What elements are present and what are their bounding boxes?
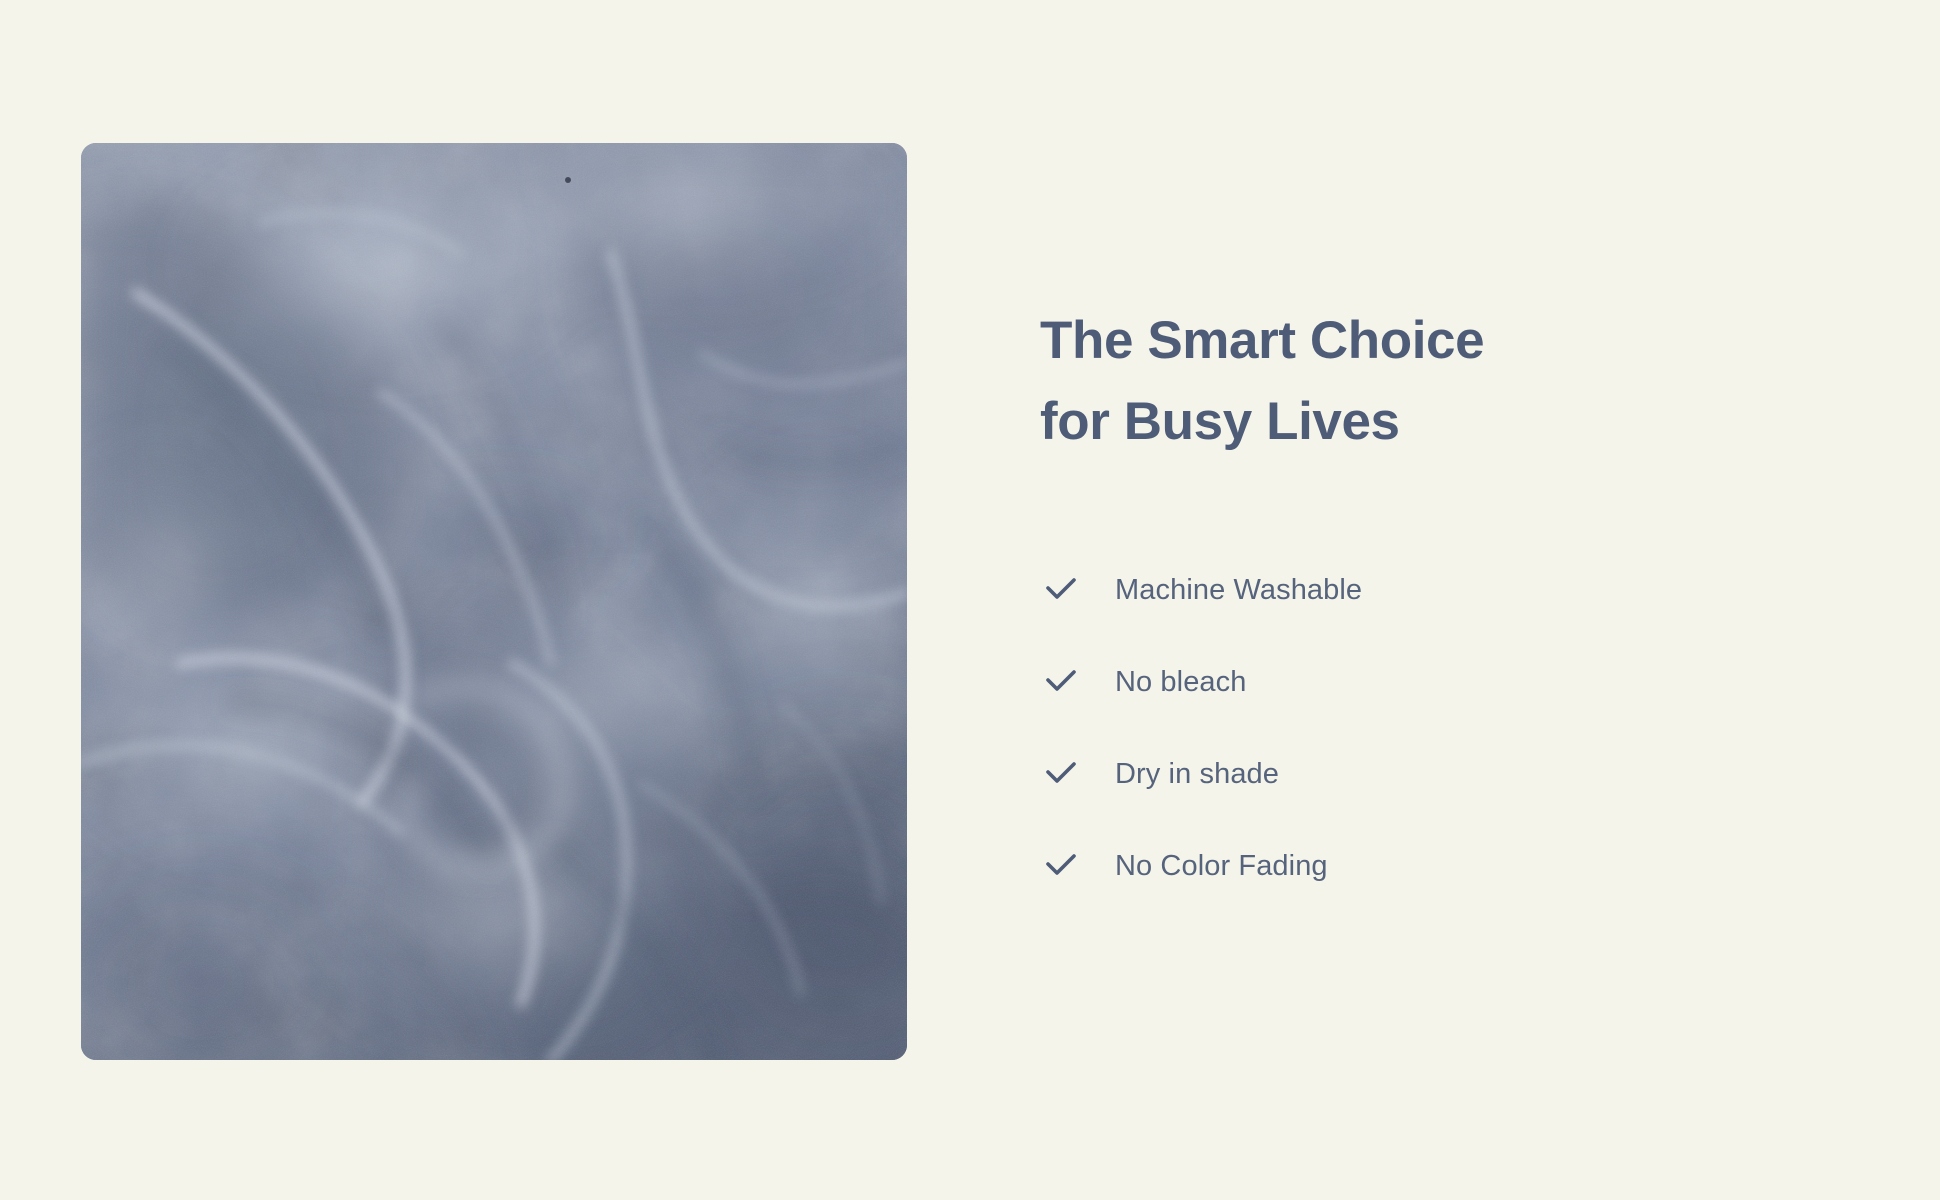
check-icon	[1040, 845, 1082, 887]
product-fabric-image[interactable]	[81, 143, 907, 1060]
list-item: No Color Fading	[1040, 843, 1760, 889]
care-feature-list: Machine Washable No bleach Dry in shade	[1040, 567, 1760, 889]
list-item-label: No bleach	[1115, 668, 1247, 697]
check-icon	[1040, 753, 1082, 795]
check-icon	[1040, 661, 1082, 703]
page-title: The Smart Choice for Busy Lives	[1040, 300, 1760, 462]
promo-copy-column: The Smart Choice for Busy Lives Machine …	[1040, 300, 1760, 889]
list-item-label: Dry in shade	[1115, 760, 1279, 789]
list-item: Dry in shade	[1040, 751, 1760, 797]
product-care-promo-section: The Smart Choice for Busy Lives Machine …	[0, 0, 1940, 1200]
check-icon	[1040, 569, 1082, 611]
list-item: Machine Washable	[1040, 567, 1760, 613]
list-item: No bleach	[1040, 659, 1760, 705]
list-item-label: Machine Washable	[1115, 576, 1362, 605]
fabric-swatch-image	[81, 143, 907, 1060]
list-item-label: No Color Fading	[1115, 852, 1328, 881]
